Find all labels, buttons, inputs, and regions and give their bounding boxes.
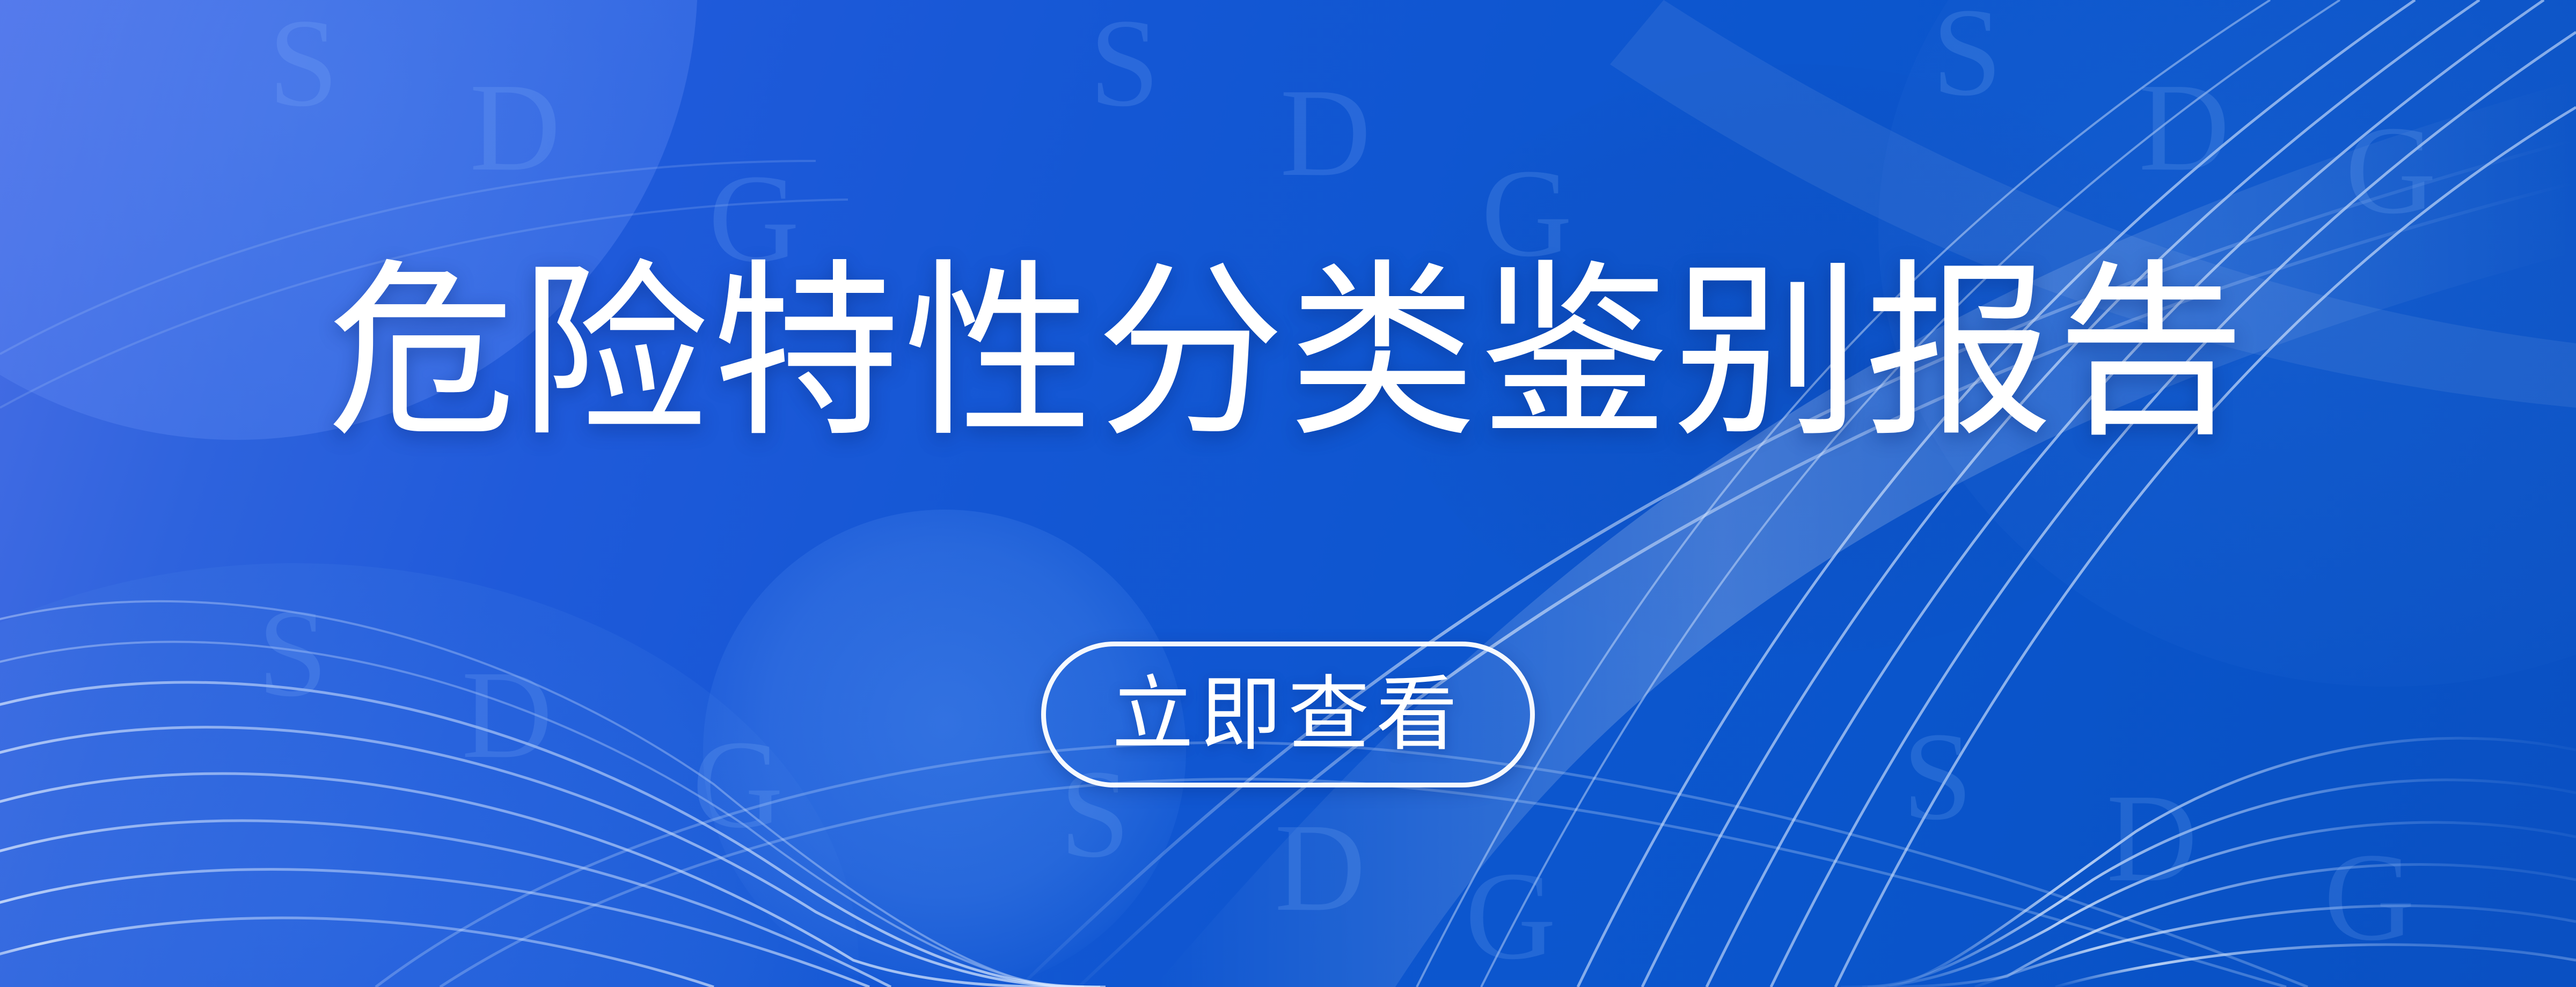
hazard-report-banner: SDGSDGSDGSDGSDGSDG 危险特性分类鉴别报告 立即查看 xyxy=(0,0,2576,987)
page-title: 危险特性分类鉴别报告 xyxy=(327,251,2249,455)
view-now-button-label: 立即查看 xyxy=(1112,674,1464,755)
view-now-button[interactable]: 立即查看 xyxy=(1041,642,1535,787)
